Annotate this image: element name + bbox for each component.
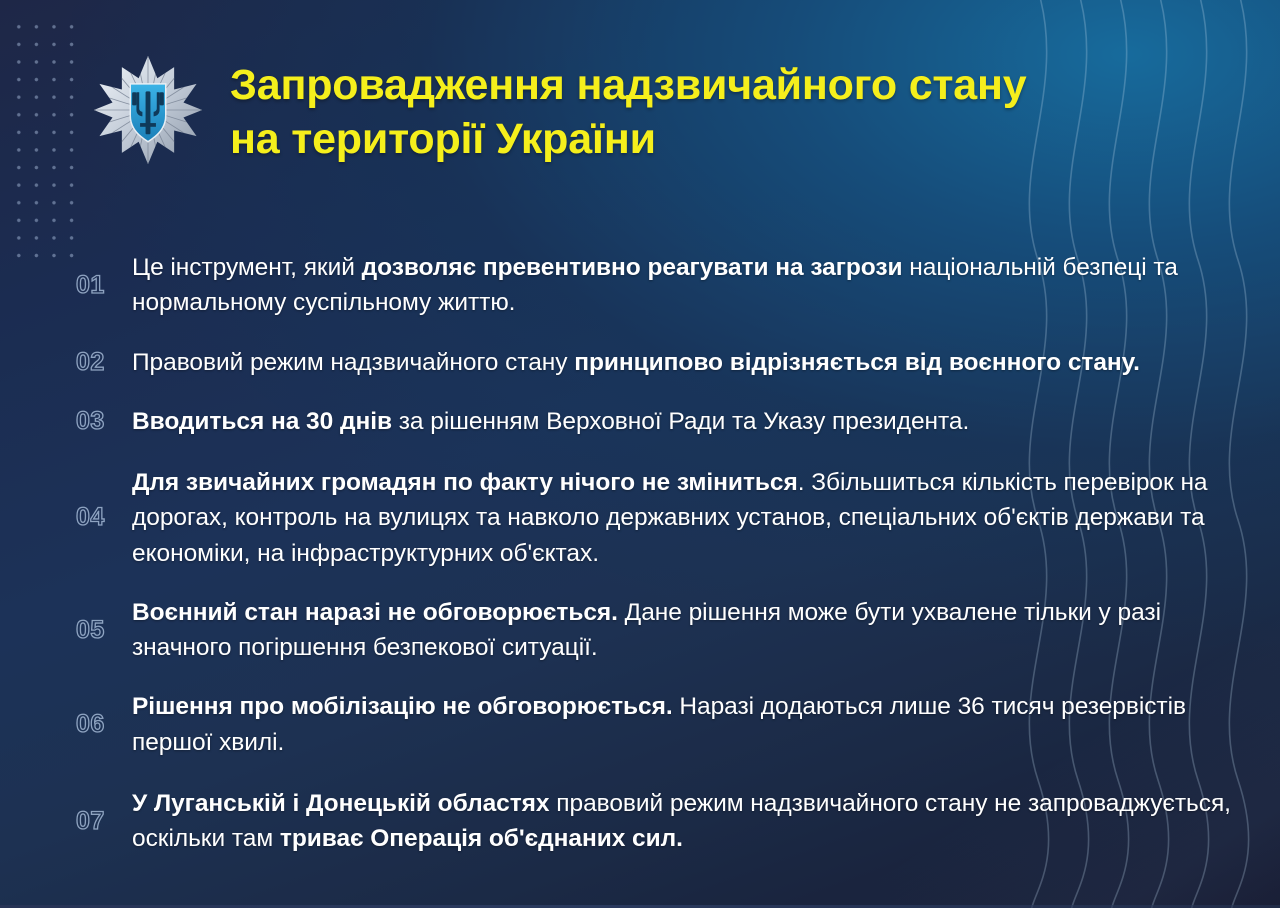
list-item: 04 Для звичайних громадян по факту нічог… bbox=[76, 465, 1246, 571]
item-text: Це інструмент, який дозволяє превентивно… bbox=[132, 250, 1246, 321]
list-item: 05 Воєнний стан наразі не обговорюється.… bbox=[76, 595, 1246, 666]
ukrainian-police-star-emblem bbox=[92, 54, 204, 166]
item-number: 02 bbox=[76, 350, 132, 375]
numbered-points-list: 01 Це інструмент, який дозволяє превенти… bbox=[76, 250, 1246, 856]
item-number: 06 bbox=[76, 712, 132, 737]
item-number: 07 bbox=[76, 809, 132, 834]
poster-header: Запровадження надзвичайного стану на тер… bbox=[92, 52, 1026, 166]
list-item: 01 Це інструмент, який дозволяє превенти… bbox=[76, 250, 1246, 321]
item-number: 01 bbox=[76, 273, 132, 298]
dot-grid-pattern bbox=[6, 14, 84, 262]
page-title: Запровадження надзвичайного стану на тер… bbox=[230, 52, 1026, 166]
title-line-1: Запровадження надзвичайного стану bbox=[230, 58, 1026, 112]
item-text: Правовий режим надзвичайного стану принц… bbox=[132, 345, 1246, 380]
item-number: 05 bbox=[76, 618, 132, 643]
infographic-poster: Запровадження надзвичайного стану на тер… bbox=[0, 0, 1280, 908]
item-text: Для звичайних громадян по факту нічого н… bbox=[132, 465, 1246, 571]
list-item: 03 Вводиться на 30 днів за рішенням Верх… bbox=[76, 404, 1246, 439]
item-text: Вводиться на 30 днів за рішенням Верховн… bbox=[132, 404, 1246, 439]
item-number: 04 bbox=[76, 505, 132, 530]
title-line-2: на території України bbox=[230, 112, 1026, 166]
list-item: 06 Рішення про мобілізацію не обговорюєт… bbox=[76, 689, 1246, 760]
item-text: Рішення про мобілізацію не обговорюється… bbox=[132, 689, 1246, 760]
item-text: У Луганській і Донецькій областях правов… bbox=[132, 786, 1246, 857]
item-number: 03 bbox=[76, 409, 132, 434]
list-item: 02 Правовий режим надзвичайного стану пр… bbox=[76, 345, 1246, 380]
item-text: Воєнний стан наразі не обговорюється. Да… bbox=[132, 595, 1246, 666]
list-item: 07 У Луганській і Донецькій областях пра… bbox=[76, 786, 1246, 857]
